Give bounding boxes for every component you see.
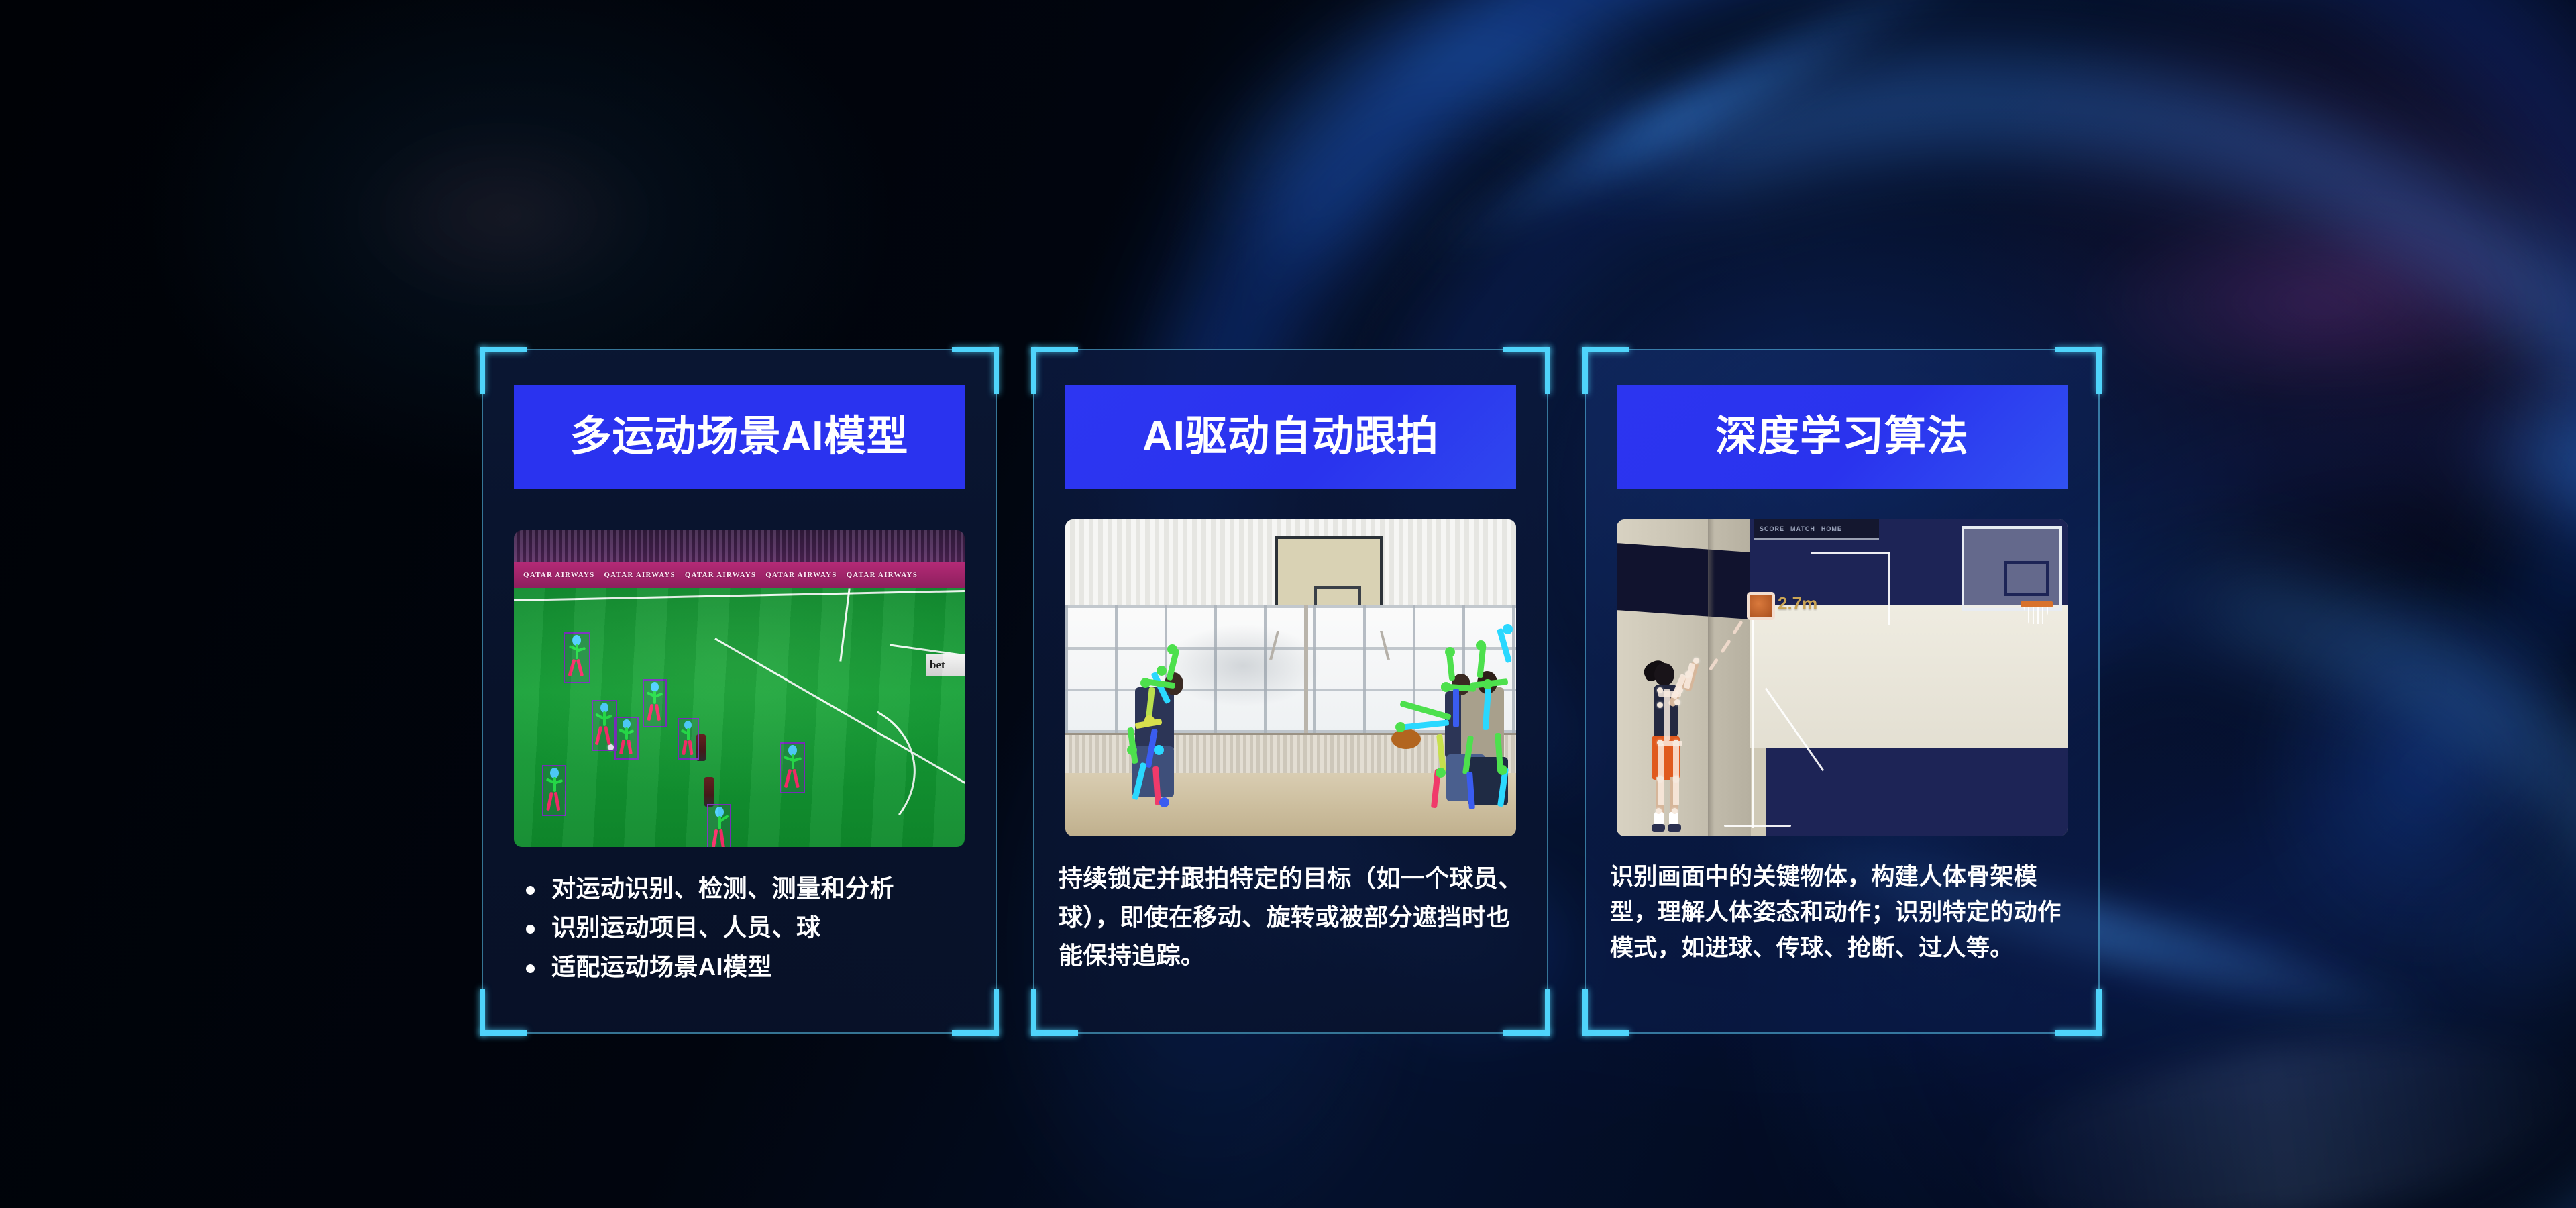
card-media-soccer-detection: QATAR AIRWAYS QATAR AIRWAYS QATAR AIRWAY…	[514, 530, 965, 847]
pose-joint	[1436, 768, 1446, 778]
card-body: 持续锁定并跟拍特定的目标（如一个球员、球），即使在移动、旋转或被部分遮挡时也能保…	[1059, 859, 1525, 975]
court-wall-padding	[1766, 748, 2068, 836]
measurement-label: 2.7m	[1778, 593, 1817, 614]
ad-banner-text-2: QATAR AIRWAYS	[594, 571, 675, 579]
pose-joint	[1693, 658, 1699, 664]
page-stage: 多运动场景AI模型 QATAR AIRWAYS QATAR AIRWAYS QA…	[0, 0, 2576, 1208]
soccer-pitch: bet	[514, 588, 965, 847]
card-description: 识别画面中的关键物体，构建人体骨架模型，理解人体姿态和动作；识别特定的动作模式，…	[1610, 859, 2077, 966]
player-head	[1654, 663, 1674, 686]
pose-joint	[1144, 715, 1155, 725]
pose-head	[550, 768, 559, 778]
pose-head	[600, 703, 608, 713]
player-unlabeled-1	[696, 734, 706, 761]
card-title-banner: AI驱动自动跟拍	[1065, 385, 1516, 489]
pose-joint	[1445, 647, 1455, 657]
pose-leg-left	[784, 769, 792, 788]
player-sock-left	[1654, 812, 1664, 825]
pose-arm-left	[595, 713, 606, 720]
pose-arm-left	[546, 778, 556, 784]
player-unlabeled-2	[704, 777, 714, 807]
detection-box	[542, 765, 566, 816]
pose-leg-left	[1658, 744, 1664, 805]
pose-leg-left	[568, 659, 576, 676]
soccer-ball	[608, 744, 614, 750]
pitch-line-far	[514, 590, 965, 601]
pose-leg-right	[554, 792, 561, 811]
pose-overlay-group	[1065, 519, 1516, 836]
pose-leg-left	[595, 726, 603, 745]
pose-joint	[1657, 702, 1663, 708]
pose-joint	[1154, 745, 1164, 755]
pose-arm-right	[625, 729, 635, 735]
pose-joint	[1673, 776, 1679, 782]
pose-joint	[1503, 624, 1513, 634]
pose-arm-left	[681, 729, 690, 736]
soccer-scene: QATAR AIRWAYS QATAR AIRWAYS QATAR AIRWAY…	[514, 530, 965, 847]
pose-leg-right	[792, 769, 800, 788]
pose-arm-extended	[1401, 719, 1450, 730]
card-body: 对运动识别、检测、测量和分析 识别运动项目、人员、球 适配运动场景AI模型	[514, 869, 967, 987]
pitch-line-side	[839, 588, 850, 662]
pose-joint	[1657, 776, 1663, 782]
pose-leg-left	[619, 740, 625, 755]
pose-joint	[1497, 765, 1507, 775]
pose-joint	[1657, 740, 1663, 746]
ball-tracking-box	[1747, 592, 1775, 620]
pillar-navy-band	[1617, 543, 1750, 619]
pose-head	[684, 721, 692, 729]
pose-arm-left	[569, 645, 580, 652]
pose-arm-left	[647, 691, 656, 698]
pitch-center-arc	[704, 681, 931, 847]
pose-leg-right	[655, 704, 661, 721]
basketball	[1391, 729, 1421, 749]
card-media-basketball-pose	[1065, 519, 1516, 836]
list-item: 识别运动项目、人员、球	[514, 908, 967, 947]
pose-joint	[1657, 687, 1663, 693]
pose-joint	[1476, 640, 1486, 650]
pose-head	[788, 745, 797, 756]
detection-box	[678, 718, 699, 760]
pose-leg-left	[682, 740, 688, 756]
pose-head	[572, 635, 581, 646]
feature-card-multi-sport-ai-model[interactable]: 多运动场景AI模型 QATAR AIRWAYS QATAR AIRWAYS QA…	[482, 349, 997, 1034]
pose-joint	[1157, 666, 1167, 676]
pose-spine	[792, 754, 794, 769]
measurement-line-horizontal	[1811, 552, 1890, 554]
scoreboard-label-match: MATCH	[1790, 525, 1815, 532]
pose-joint	[1140, 678, 1150, 688]
pose-joint	[1685, 671, 1691, 677]
pose-leg-right	[688, 740, 693, 755]
pose-joint	[1674, 699, 1680, 705]
pitch-line-diagonal	[714, 638, 965, 784]
feature-bullet-list: 对运动识别、检测、测量和分析 识别运动项目、人员、球 适配运动场景AI模型	[514, 869, 967, 987]
pose-leg-left	[712, 829, 718, 847]
card-title-banner: 多运动场景AI模型	[514, 385, 965, 489]
pose-joint	[1127, 745, 1137, 755]
advertising-banner: QATAR AIRWAYS QATAR AIRWAYS QATAR AIRWAY…	[514, 562, 965, 588]
pose-head	[651, 682, 659, 692]
sponsor-board: bet	[926, 654, 965, 676]
pose-leg-right	[627, 740, 633, 755]
pose-leg-right	[576, 659, 584, 676]
measurement-line-drop	[1752, 607, 1754, 828]
player-sock-right	[1669, 812, 1678, 825]
pillar-shadow-edge	[1708, 519, 1715, 836]
pose-arm-right	[576, 647, 586, 652]
pose-joint	[1673, 740, 1679, 746]
list-item: 适配运动场景AI模型	[514, 948, 967, 987]
pitch-line-box	[890, 644, 965, 662]
list-item: 对运动识别、检测、测量和分析	[514, 869, 967, 908]
pose-joint	[1441, 682, 1451, 692]
pose-head	[715, 807, 724, 817]
card-description: 持续锁定并跟拍特定的目标（如一个球员、球），即使在移动、旋转或被部分遮挡时也能保…	[1059, 859, 1525, 975]
pose-spine	[718, 816, 721, 829]
player-shoe-right	[1668, 824, 1681, 832]
feature-card-row: 多运动场景AI模型 QATAR AIRWAYS QATAR AIRWAYS QA…	[482, 349, 2098, 1034]
scoreboard: SCORE MATCH HOME	[1754, 519, 1879, 540]
pose-arm-extended	[1399, 700, 1451, 720]
detection-box	[592, 700, 617, 751]
card-body: 识别画面中的关键物体，构建人体骨架模型，理解人体姿态和动作；识别特定的动作模式，…	[1610, 859, 2077, 966]
pose-leg-right	[604, 726, 611, 745]
pose-leg-left	[546, 792, 553, 811]
pose-spine	[687, 728, 690, 740]
basketball-rim	[2021, 601, 2053, 607]
pose-leg-left	[647, 704, 653, 721]
pose-joint	[1159, 797, 1169, 807]
ad-banner-text-3: QATAR AIRWAYS	[676, 571, 756, 579]
detection-box	[614, 717, 639, 760]
pose-arm-right	[718, 815, 729, 823]
measurement-line-vertical	[1888, 552, 1890, 625]
ad-banner-text-1: QATAR AIRWAYS	[514, 571, 594, 579]
pose-leg-right	[1673, 744, 1679, 805]
card-media-height-measurement: SCORE MATCH HOME	[1617, 519, 2068, 836]
detection-box	[563, 632, 590, 683]
pose-joint	[1672, 808, 1678, 814]
pose-arm-left	[784, 756, 795, 762]
scoreboard-label-score: SCORE	[1760, 525, 1784, 532]
card-title-banner: 深度学习算法	[1617, 385, 2068, 489]
pose-spine	[625, 727, 628, 740]
ad-banner-text-5: QATAR AIRWAYS	[837, 571, 918, 579]
pose-arm-right	[792, 757, 802, 762]
court-scene: SCORE MATCH HOME	[1617, 519, 2068, 836]
pose-head	[623, 719, 631, 729]
scoreboard-label-home: HOME	[1821, 525, 1842, 532]
detection-box	[707, 804, 731, 847]
detection-box	[643, 679, 667, 727]
pose-arm-right	[603, 715, 612, 721]
pose-joint	[1483, 679, 1493, 689]
basketball-backboard	[1962, 526, 2062, 611]
pose-spine	[576, 644, 578, 659]
pose-joint	[1395, 722, 1405, 732]
pose-arm-right	[553, 779, 563, 785]
gym-scene	[1065, 519, 1516, 836]
ad-banner-text-4: QATAR AIRWAYS	[756, 571, 837, 579]
feature-card-ai-auto-tracking-shot[interactable]: AI驱动自动跟拍	[1033, 349, 1548, 1034]
measurement-line-floor	[1724, 825, 1791, 827]
court-white-wall	[1750, 605, 2068, 748]
pose-joint	[1167, 644, 1177, 654]
pose-arm-left	[619, 728, 628, 734]
pose-spine	[553, 777, 556, 792]
detection-box	[780, 742, 805, 793]
stadium-crowd	[514, 530, 965, 565]
pose-joint	[1677, 687, 1683, 693]
pose-spine	[603, 711, 606, 726]
player-shoe-left	[1652, 824, 1665, 832]
pose-arm-right	[653, 693, 663, 699]
pose-leg-right	[719, 829, 725, 847]
pose-spine	[1453, 689, 1459, 727]
feature-card-deep-learning-algorithm[interactable]: 深度学习算法 SCORE MATCH HOME	[1585, 349, 2100, 1034]
pose-joint	[1656, 808, 1662, 814]
pose-spine	[653, 691, 656, 704]
backboard-inner-square	[2004, 561, 2049, 596]
